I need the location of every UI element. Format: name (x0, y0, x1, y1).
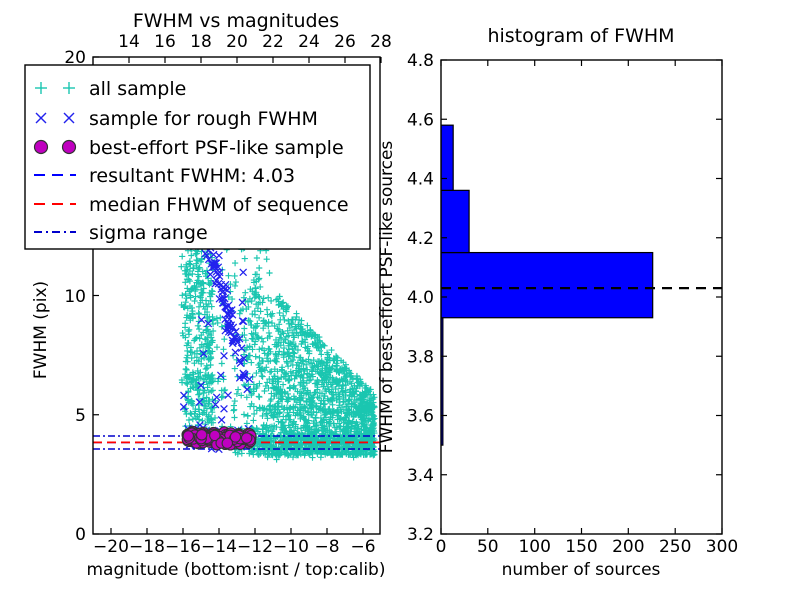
x-tick-label: 100 (518, 537, 550, 557)
bottom-tick-label: −10 (273, 537, 309, 557)
y-tick-label: 4.4 (407, 170, 434, 190)
histogram-bars (441, 125, 653, 445)
bottom-tick-label: −14 (201, 537, 237, 557)
y-tick-label: 3.4 (407, 466, 434, 486)
series-all-sample (178, 228, 378, 462)
y-tick-label: 0 (75, 525, 86, 545)
series-psf-like-sample (182, 426, 256, 450)
top-tick-label: 24 (298, 32, 320, 52)
histogram-bar (441, 190, 469, 252)
bottom-tick-label: −18 (129, 537, 165, 557)
right-panel-xlabel: number of sources (502, 560, 661, 580)
histogram-bar (441, 253, 653, 318)
legend-label: resultant FWHM: 4.03 (89, 165, 295, 187)
bottom-tick-label: −12 (237, 537, 273, 557)
legend-label: best-effort PSF-like sample (89, 137, 344, 159)
x-tick-label: 150 (565, 537, 597, 557)
bottom-tick-label: −20 (93, 537, 129, 557)
matplotlib-figure: FWHM vs magnitudes 14 16 18 20 22 24 26 … (0, 0, 800, 600)
y-tick-label: 4.0 (407, 288, 434, 308)
x-tick-label: 50 (477, 537, 499, 557)
x-tick-label: 200 (612, 537, 644, 557)
x-tick-label: 0 (436, 537, 447, 557)
legend-label: sample for rough FWHM (89, 108, 318, 130)
left-panel-data-area (93, 221, 380, 463)
y-tick-label: 10 (64, 287, 86, 307)
bottom-tick-label: −8 (314, 537, 339, 557)
left-panel-ylabel: FWHM (pix) (31, 281, 51, 379)
left-panel-xlabel: magnitude (bottom:isnt / top:calib) (87, 560, 386, 580)
scatter-point-psf-like (242, 433, 252, 443)
scatter-point-psf-like (183, 431, 193, 441)
right-panel-data-area (441, 125, 722, 445)
right-panel: histogram of FWHM (377, 25, 738, 580)
top-tick-label: 18 (190, 32, 212, 52)
left-panel-bottom-tick-labels: −20 −18 −16 −14 −12 −10 −8 −6 (93, 537, 375, 557)
top-tick-label: 16 (154, 32, 176, 52)
scatter-points-all-sample (178, 228, 378, 462)
left-panel-top-tick-labels: 14 16 18 20 22 24 26 28 (118, 32, 392, 52)
legend-label: sigma range (89, 222, 208, 244)
x-tick-label: 300 (706, 537, 738, 557)
legend-label: median FHWM of sequence (89, 194, 349, 216)
y-tick-label: 4.8 (407, 51, 434, 71)
bottom-tick-label: −6 (350, 537, 375, 557)
figure-canvas: FWHM vs magnitudes 14 16 18 20 22 24 26 … (0, 0, 800, 600)
histogram-bar (441, 125, 453, 190)
top-tick-label: 20 (226, 32, 248, 52)
y-tick-label: 3.6 (407, 407, 434, 427)
y-tick-label: 3.8 (407, 347, 434, 367)
top-tick-label: 22 (262, 32, 284, 52)
right-panel-x-tick-labels: 0 50 100 150 200 250 300 (436, 537, 739, 557)
top-tick-label: 14 (118, 32, 140, 52)
legend-label: all sample (89, 78, 186, 100)
y-tick-label: 3.2 (407, 525, 434, 545)
left-panel: FWHM vs magnitudes 14 16 18 20 22 24 26 … (25, 10, 392, 580)
left-panel-top-ticks (129, 57, 381, 63)
y-tick-label: 4.6 (407, 110, 434, 130)
bottom-tick-label: −16 (165, 537, 201, 557)
legend[interactable]: all sample sample for rough FWHM best-ef… (25, 65, 370, 249)
top-tick-label: 26 (334, 32, 356, 52)
scatter-point-psf-like (197, 430, 207, 440)
top-tick-label: 28 (370, 32, 392, 52)
right-panel-ylabel: FWHM of best-effort PSF-like sources (377, 141, 397, 454)
y-tick-label: 4.2 (407, 229, 434, 249)
scatter-point-psf-like (222, 438, 232, 448)
y-tick-label: 5 (75, 406, 86, 426)
x-tick-label: 250 (659, 537, 691, 557)
right-panel-y-tick-labels: 3.2 3.4 3.6 3.8 4.0 4.2 4.4 4.6 4.8 (407, 51, 434, 545)
left-panel-title: FWHM vs magnitudes (133, 10, 339, 32)
right-panel-title: histogram of FWHM (487, 25, 674, 47)
left-panel-bottom-ticks (111, 528, 363, 534)
